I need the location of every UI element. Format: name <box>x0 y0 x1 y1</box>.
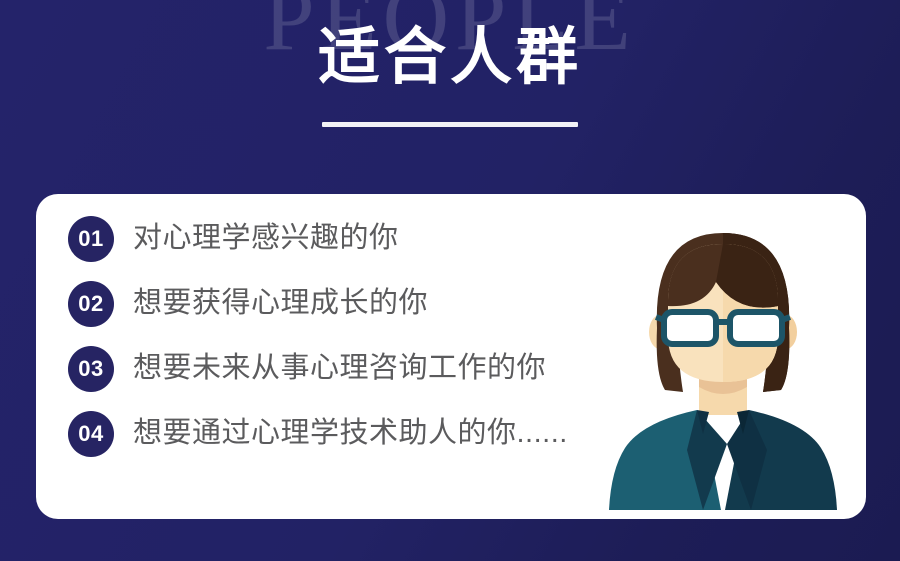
list-item-label: 想要未来从事心理咨询工作的你 <box>133 354 546 383</box>
list-item[interactable]: 02 想要获得心理成长的你 <box>68 271 628 336</box>
woman-with-glasses-avatar-icon <box>598 210 848 510</box>
list-item-label: 对心理学感兴趣的你 <box>133 224 399 253</box>
poster-root: PEOPLE 适合人群 01 对心理学感兴趣的你 02 想要获得心理成长的你 0… <box>0 0 900 561</box>
title-underline-rule <box>322 122 578 127</box>
list-item-label: 想要通过心理学技术助人的你...... <box>133 419 568 448</box>
page-title: 适合人群 <box>0 22 900 93</box>
audience-list: 01 对心理学感兴趣的你 02 想要获得心理成长的你 03 想要未来从事心理咨询… <box>68 206 628 466</box>
list-item[interactable]: 01 对心理学感兴趣的你 <box>68 206 628 271</box>
header-section: PEOPLE 适合人群 <box>0 0 900 185</box>
list-item-number-badge: 02 <box>68 281 114 327</box>
list-item-number-badge: 03 <box>68 346 114 392</box>
list-item[interactable]: 04 想要通过心理学技术助人的你...... <box>68 401 628 466</box>
list-item-number-badge: 04 <box>68 411 114 457</box>
list-item-label: 想要获得心理成长的你 <box>133 289 428 318</box>
content-card: 01 对心理学感兴趣的你 02 想要获得心理成长的你 03 想要未来从事心理咨询… <box>36 194 866 519</box>
list-item[interactable]: 03 想要未来从事心理咨询工作的你 <box>68 336 628 401</box>
list-item-number-badge: 01 <box>68 216 114 262</box>
